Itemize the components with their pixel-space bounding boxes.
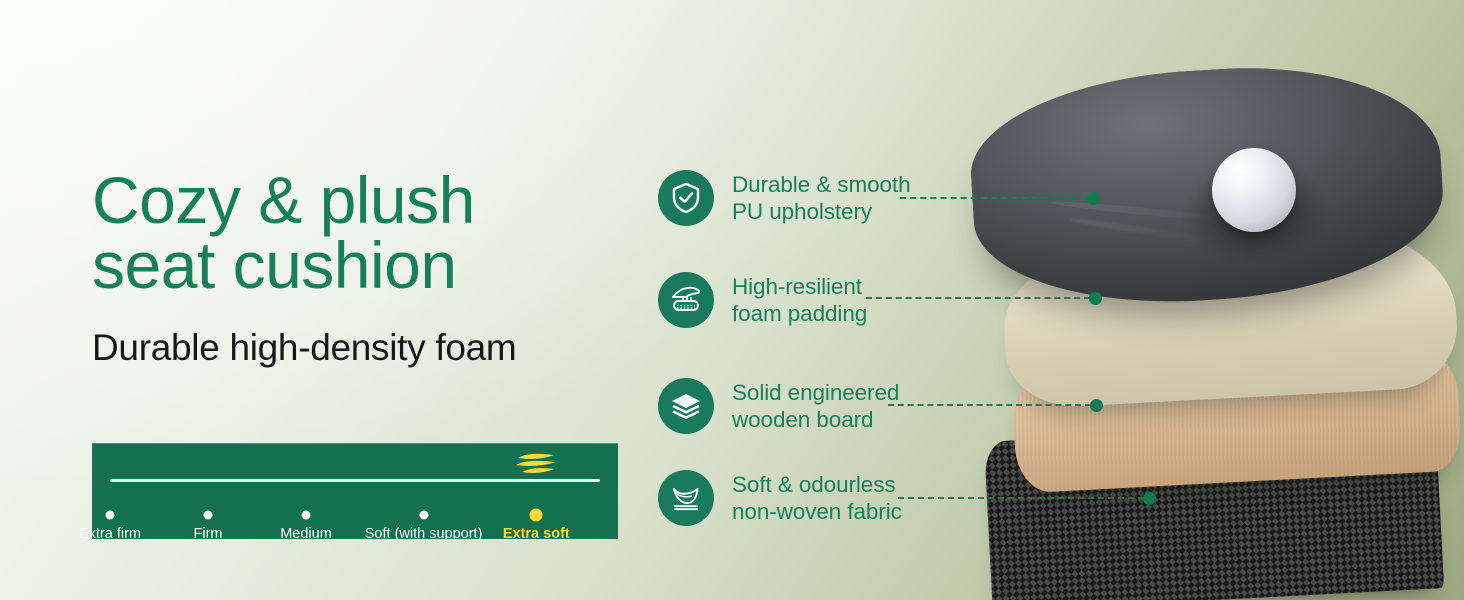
feature-icon-circle — [658, 272, 714, 328]
pressure-test-sphere — [1212, 148, 1296, 232]
firmness-scale: Extra firm Firm Medium Soft (with suppor… — [92, 443, 618, 539]
firmness-stop-label: Extra firm — [79, 526, 141, 542]
connector-non-woven-fabric — [898, 492, 1156, 504]
firmness-stop-dot-active — [530, 509, 543, 522]
firmness-stop-label: Soft (with support) — [365, 526, 483, 542]
product-feature-banner: Cozy & plush seat cushion Durable high-d… — [0, 0, 1464, 600]
feature-label: Soft & odourless non-woven fabric — [732, 471, 902, 526]
feature-icon-circle — [658, 378, 714, 434]
feature-icon-circle — [658, 170, 714, 226]
connector-endpoint-dot — [1090, 399, 1103, 412]
connector-endpoint-dot — [1143, 492, 1156, 505]
firmness-stop-label: Extra soft — [503, 526, 570, 542]
feature-label: High-resilient foam padding — [732, 273, 867, 328]
feature-item-non-woven-fabric[interactable]: Soft & odourless non-woven fabric — [658, 470, 902, 526]
connector-wooden-board — [888, 399, 1103, 411]
headline-block: Cozy & plush seat cushion Durable high-d… — [92, 168, 632, 369]
stacked-layers-icon — [670, 392, 702, 420]
firmness-stop-label: Firm — [194, 526, 223, 542]
product-layer-pu-upholstery — [965, 56, 1448, 314]
firmness-stop-dot — [106, 511, 115, 520]
firmness-stop-dot — [302, 511, 311, 520]
connector-pu-upholstery — [900, 192, 1100, 204]
firmness-stop-dot — [419, 511, 428, 520]
page-subtitle: Durable high-density foam — [92, 327, 632, 369]
feature-label: Durable & smooth PU upholstery — [732, 171, 911, 226]
connector-endpoint-dot — [1087, 192, 1100, 205]
feature-icon-circle — [658, 470, 714, 526]
shield-check-icon — [671, 182, 701, 214]
hand-press-foam-icon — [669, 284, 703, 316]
connector-foam-padding — [866, 292, 1102, 304]
feature-item-pu-upholstery[interactable]: Durable & smooth PU upholstery — [658, 170, 911, 226]
firmness-stop-dot — [204, 511, 213, 520]
connector-endpoint-dot — [1089, 292, 1102, 305]
wave-icon — [514, 453, 558, 477]
feature-item-wooden-board[interactable]: Solid engineered wooden board — [658, 378, 899, 434]
feature-label: Solid engineered wooden board — [732, 379, 899, 434]
feature-item-foam-padding[interactable]: High-resilient foam padding — [658, 272, 867, 328]
firmness-stop-label: Medium — [280, 526, 332, 542]
fabric-sheet-icon — [670, 484, 702, 512]
firmness-scale-track: Extra firm Firm Medium Soft (with suppor… — [110, 479, 600, 482]
page-title: Cozy & plush seat cushion — [92, 168, 632, 297]
